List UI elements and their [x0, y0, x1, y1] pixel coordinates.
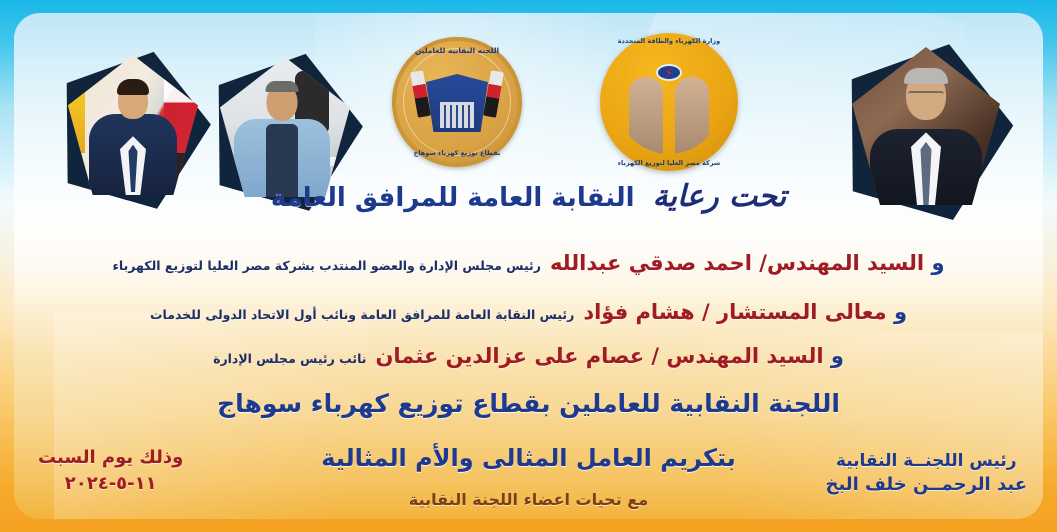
- patron-subtitle-2: رئيس النقابة العامة للمرافق العامة ونائب…: [150, 307, 574, 322]
- patron-name-2-text: معالى المستشار / هشام فؤاد: [583, 300, 886, 324]
- ministry-logo-top-text: وزارة الكهرباء والطاقة المتجددة: [600, 37, 738, 45]
- signature-block: رئيس اللجنــة النقابية عبد الرحمــن خلف …: [825, 450, 1027, 497]
- patron-name-2: و معالى المستشار / هشام فؤاد: [583, 300, 907, 324]
- signature-role: رئيس اللجنــة النقابية: [825, 450, 1027, 473]
- pharaoh-statue-icon-right: [675, 77, 709, 154]
- ministry-logo-bottom-text: شركة مصر العليا لتوزيع الكهرباء: [600, 159, 738, 167]
- patron-name-3-text: السيد المهندس / عصام على عزالدين عثمان: [375, 344, 823, 368]
- hair-2: [266, 81, 299, 92]
- patron-name-1: و السيد المهندس/ احمد صدقي عبدالله: [550, 251, 945, 275]
- signature-name: عبد الرحمــن خلف البخ: [825, 473, 1027, 497]
- patron-lead-2: و: [894, 300, 907, 324]
- building-icon: [440, 102, 474, 128]
- patron-subtitle-3: نائب رئيس مجلس الإدارة: [213, 351, 366, 366]
- patron-name-3: و السيد المهندس / عصام على عزالدين عثمان: [375, 344, 843, 368]
- date-block: وذلك يوم السبت ١١-٥-٢٠٢٤: [38, 445, 183, 497]
- ministry-logo-image: ⚡: [617, 50, 721, 154]
- patron-row-2: و معالى المستشار / هشام فؤاد رئيس النقاب…: [14, 300, 1043, 324]
- pharaoh-statue-icon-left: [629, 77, 663, 154]
- patron-name-1-text: السيد المهندس/ احمد صدقي عبدالله: [550, 251, 924, 275]
- union-logo-bottom-text: بقطاع توزيع كهرباء سوهاج: [392, 149, 522, 157]
- patronage-script-text: تحت رعاية: [653, 179, 787, 214]
- event-day-label: وذلك يوم السبت: [38, 445, 183, 471]
- patron-lead-3: و: [831, 344, 844, 368]
- patron-row-3: و السيد المهندس / عصام على عزالدين عثمان…: [14, 344, 1043, 368]
- event-banner: اللجنه النقابيه للعاملين بقطاع توزيع كهر…: [0, 0, 1057, 532]
- patronage-organization: النقابة العامة للمرافق العامة: [271, 183, 635, 213]
- portrait-photo-1: [58, 49, 208, 199]
- patronage-row: تحت رعاية النقابة العامة للمرافق العامة: [14, 179, 1043, 214]
- union-committee-logo: اللجنه النقابيه للعاملين بقطاع توزيع كهر…: [392, 37, 522, 167]
- patron-lead-1: و: [931, 251, 944, 275]
- hair-3: [904, 68, 948, 84]
- hair-1: [117, 79, 149, 95]
- banner-panel: اللجنه النقابيه للعاملين بقطاع توزيع كهر…: [14, 13, 1043, 519]
- union-crest-icon: [426, 74, 488, 132]
- electricity-bolt-icon: ⚡: [656, 64, 682, 81]
- ministry-logo: وزارة الكهرباء والطاقة المتجددة ⚡ شركة م…: [600, 33, 738, 171]
- patron-subtitle-1: رئيس مجلس الإدارة والعضو المنتدب بشركة م…: [113, 258, 541, 273]
- event-date-value: ١١-٥-٢٠٢٤: [38, 471, 183, 497]
- patron-row-1: و السيد المهندس/ احمد صدقي عبدالله رئيس …: [14, 251, 1043, 275]
- union-logo-top-text: اللجنه النقابيه للعاملين: [392, 46, 522, 55]
- glasses-icon: [908, 91, 944, 100]
- event-headline-primary: اللجنة النقابية للعاملين بقطاع توزيع كهر…: [14, 389, 1043, 418]
